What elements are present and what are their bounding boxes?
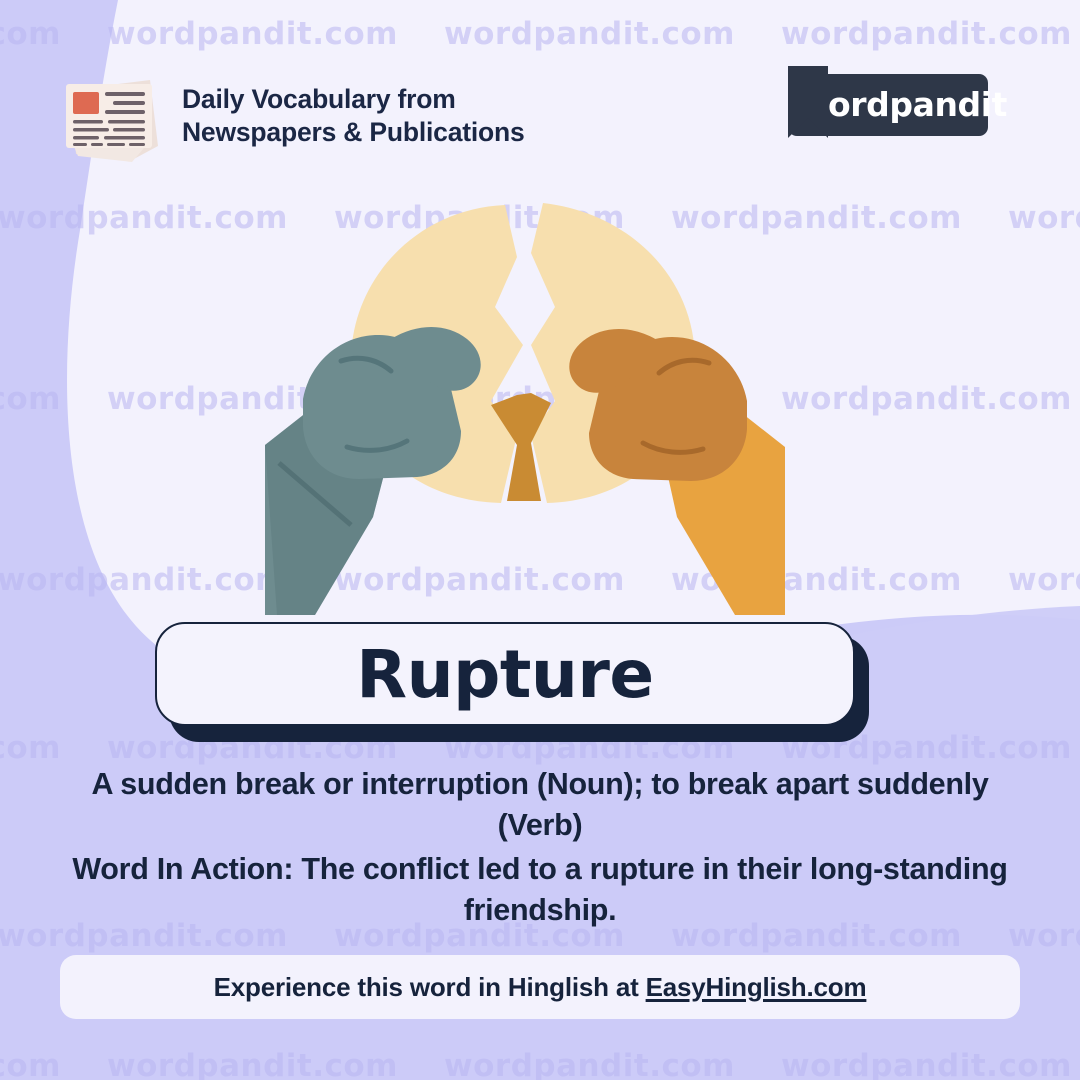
- word-definition: A sudden break or interruption (Noun); t…: [62, 764, 1018, 845]
- easyhinglish-link[interactable]: EasyHinglish.com: [646, 972, 867, 1002]
- word-in-action-example: Word In Action: The conflict led to a ru…: [42, 849, 1038, 930]
- logo-text: ordpandit: [828, 74, 1007, 136]
- word-card: Rupture: [155, 622, 855, 726]
- page-header: Daily Vocabulary from Newspapers & Publi…: [0, 68, 1080, 174]
- header-branding: Daily Vocabulary from Newspapers & Publi…: [58, 68, 525, 164]
- footer-prefix: Experience this word in Hinglish at: [214, 972, 646, 1002]
- newspaper-icon: [58, 68, 166, 164]
- vocabulary-card-page: wordpandit.comwordpandit.comwordpandit.c…: [0, 0, 1080, 1080]
- word-card-container: Rupture: [155, 622, 855, 734]
- footer-bar: Experience this word in Hinglish at Easy…: [60, 955, 1020, 1019]
- wordpandit-logo[interactable]: ordpandit: [770, 74, 988, 136]
- vocabulary-word: Rupture: [356, 636, 653, 713]
- footer-text: Experience this word in Hinglish at Easy…: [214, 972, 867, 1003]
- two-hands-breaking-circle-illustration: [255, 195, 795, 625]
- page-title: Daily Vocabulary from Newspapers & Publi…: [182, 83, 525, 149]
